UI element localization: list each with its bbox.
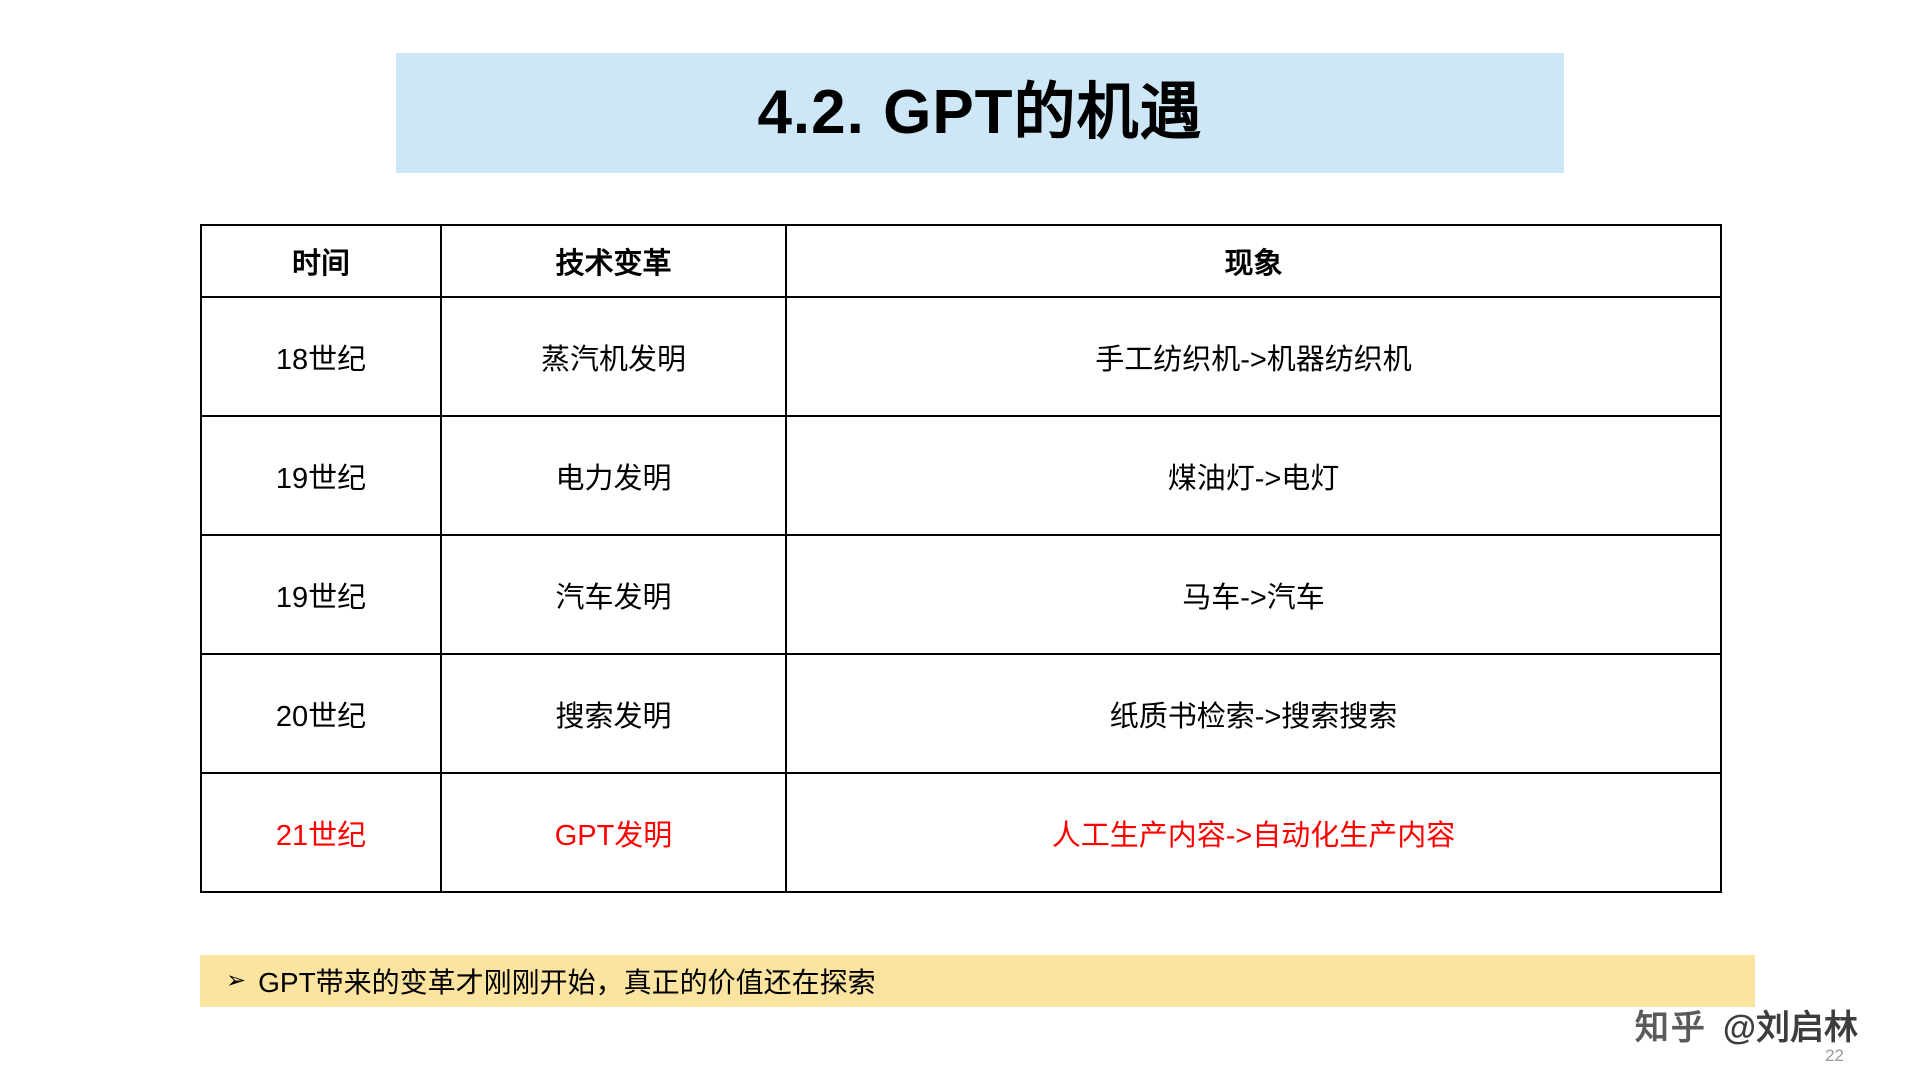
- cell-tech: 蒸汽机发明: [441, 297, 786, 416]
- title-band: 4.2. GPT的机遇: [396, 53, 1564, 173]
- column-header-tech: 技术变革: [441, 225, 786, 297]
- page-title: 4.2. GPT的机遇: [757, 82, 1202, 144]
- cell-tech: 汽车发明: [441, 535, 786, 654]
- author-handle: @刘启林: [1723, 1000, 1858, 1049]
- cell-phenomenon: 马车->汽车: [786, 535, 1721, 654]
- cell-time: 18世纪: [201, 297, 441, 416]
- timeline-table: 时间 技术变革 现象 18世纪 蒸汽机发明 手工纺织机->机器纺织机 19世纪 …: [200, 224, 1722, 893]
- footer-note-text: GPT带来的变革才刚刚开始，真正的价值还在探索: [258, 961, 876, 1001]
- cell-tech: GPT发明: [441, 773, 786, 892]
- page-number: 22: [1825, 1046, 1844, 1066]
- table-container: 时间 技术变革 现象 18世纪 蒸汽机发明 手工纺织机->机器纺织机 19世纪 …: [200, 224, 1720, 893]
- cell-phenomenon: 手工纺织机->机器纺织机: [786, 297, 1721, 416]
- footer-note-band: ➢ GPT带来的变革才刚刚开始，真正的价值还在探索: [200, 955, 1755, 1007]
- table-row: 18世纪 蒸汽机发明 手工纺织机->机器纺织机: [201, 297, 1721, 416]
- cell-phenomenon: 煤油灯->电灯: [786, 416, 1721, 535]
- table-row: 19世纪 电力发明 煤油灯->电灯: [201, 416, 1721, 535]
- cell-tech: 搜索发明: [441, 654, 786, 773]
- cell-phenomenon: 纸质书检索->搜索搜索: [786, 654, 1721, 773]
- column-header-time: 时间: [201, 225, 441, 297]
- cell-phenomenon: 人工生产内容->自动化生产内容: [786, 773, 1721, 892]
- table-row: 20世纪 搜索发明 纸质书检索->搜索搜索: [201, 654, 1721, 773]
- table-row: 19世纪 汽车发明 马车->汽车: [201, 535, 1721, 654]
- cell-time: 21世纪: [201, 773, 441, 892]
- table-row-highlighted: 21世纪 GPT发明 人工生产内容->自动化生产内容: [201, 773, 1721, 892]
- slide-canvas: 4.2. GPT的机遇 时间 技术变革 现象 18世纪 蒸汽机发明 手工纺织机: [0, 0, 1920, 1080]
- cell-time: 20世纪: [201, 654, 441, 773]
- watermark: 知乎 @刘启林: [1635, 1000, 1858, 1049]
- cell-time: 19世纪: [201, 535, 441, 654]
- zhihu-logo: 知乎: [1635, 1000, 1707, 1049]
- cell-time: 19世纪: [201, 416, 441, 535]
- column-header-phenomenon: 现象: [786, 225, 1721, 297]
- table-header-row: 时间 技术变革 现象: [201, 225, 1721, 297]
- cell-tech: 电力发明: [441, 416, 786, 535]
- bullet-arrow-icon: ➢: [226, 969, 246, 993]
